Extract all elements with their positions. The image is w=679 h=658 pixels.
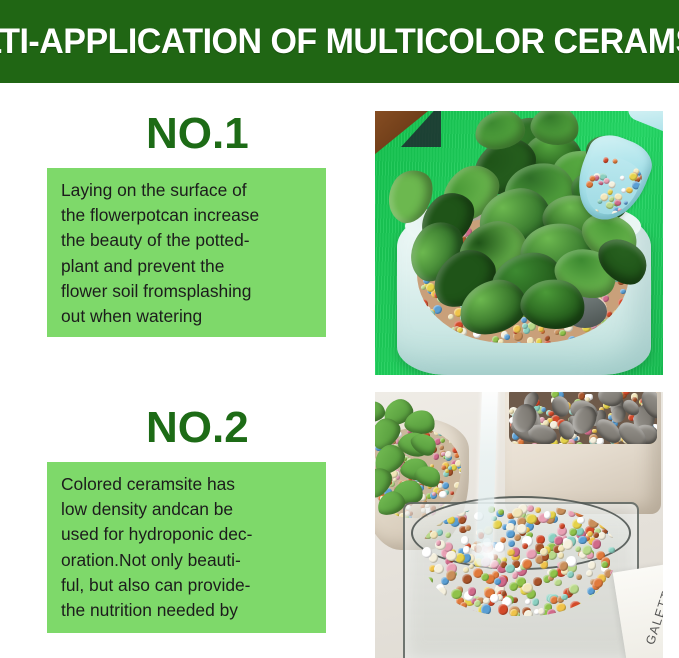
section-1-photo <box>375 111 663 375</box>
section-1-text-panel: Laying on the surface of the flowerpotca… <box>47 168 326 337</box>
section-2-number: NO.2 <box>146 406 249 450</box>
photo-1-content <box>375 111 663 375</box>
planter-top <box>509 392 657 444</box>
header-banner: MULTI-APPLICATION OF MULTICOLOR CERAMSIT… <box>0 0 679 83</box>
infographic-page: MULTI-APPLICATION OF MULTICOLOR CERAMSIT… <box>0 0 679 658</box>
water-splash <box>471 542 505 568</box>
section-2-photo: GALETTE <box>375 392 663 658</box>
page-title: MULTI-APPLICATION OF MULTICOLOR CERAMSIT… <box>0 24 679 59</box>
section-1-number: NO.1 <box>146 112 249 156</box>
pebble-cluster-glass <box>421 504 617 616</box>
section-2-text-panel: Colored ceramsite has low density andcan… <box>47 462 326 633</box>
photo-2-content: GALETTE <box>375 392 663 658</box>
glass-vase-pebble-bed <box>421 504 617 616</box>
succulent-plant <box>375 396 445 506</box>
